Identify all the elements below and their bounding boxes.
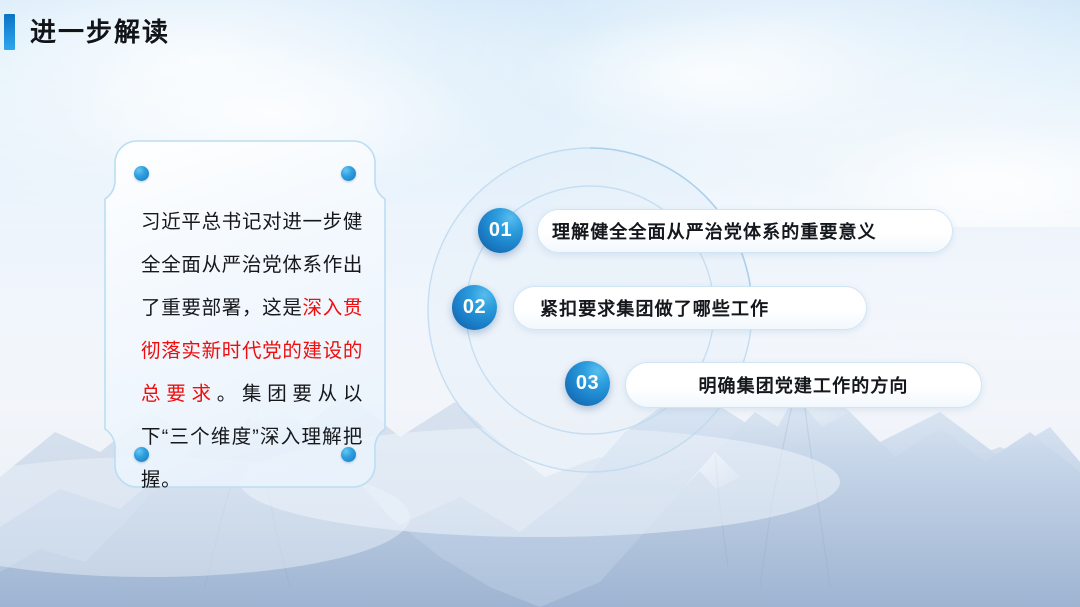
list-item-badge-03[interactable]: 03 xyxy=(565,361,610,406)
title-accent-bar xyxy=(4,14,15,50)
card-corner-dot-top-right xyxy=(341,166,356,181)
card-corner-dot-top-left xyxy=(134,166,149,181)
list-item-badge-01[interactable]: 01 xyxy=(478,208,523,253)
list-item-label-03: 明确集团党建工作的方向 xyxy=(698,372,908,398)
slide-canvas: 进一步解读 习近平总书记对进一步健全全面从严治党体系作出了重要部署，这是深入贯彻… xyxy=(0,0,1080,607)
list-item-badge-02[interactable]: 02 xyxy=(452,285,497,330)
list-item-pill-03[interactable]: 明确集团党建工作的方向 xyxy=(625,362,982,408)
list-item-label-02: 紧扣要求集团做了哪些工作 xyxy=(540,295,769,321)
quote-card-paragraph: 习近平总书记对进一步健全全面从严治党体系作出了重要部署，这是深入贯彻落实新时代党… xyxy=(141,201,363,502)
list-item-pill-01[interactable]: 理解健全全面从严治党体系的重要意义 xyxy=(537,209,953,253)
list-item-label-01: 理解健全全面从严治党体系的重要意义 xyxy=(552,218,877,244)
quote-card: 习近平总书记对进一步健全全面从严治党体系作出了重要部署，这是深入贯彻落实新时代党… xyxy=(103,139,387,489)
list-item-pill-02[interactable]: 紧扣要求集团做了哪些工作 xyxy=(513,286,867,330)
page-title: 进一步解读 xyxy=(30,14,170,50)
